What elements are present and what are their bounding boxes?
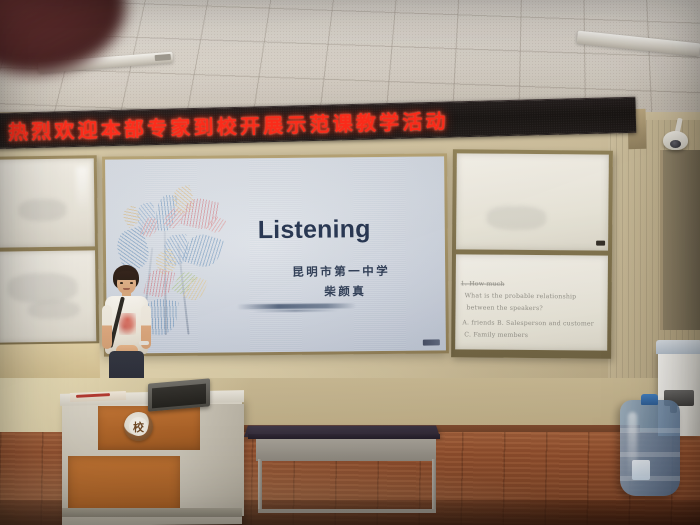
classroom-photo: 热烈欢迎本部专家到校开展示范课教学活动 1. How much What is … [0,0,700,525]
bottle-cap [641,394,658,405]
light-end-cap [155,54,171,61]
wristwatch [139,341,149,345]
slide-presenter-name: 柴颜真 [324,283,366,299]
slide-school-name: 昆明市第一中学 [292,263,390,280]
eye-left [120,282,123,284]
school-emblem-mark: 校 [129,417,148,436]
school-emblem-icon: 校 [124,412,153,441]
table-apron [256,439,436,461]
eye-right [130,282,133,284]
mouth [123,288,130,290]
whiteboard-glare [76,166,89,212]
whiteboard-line-3: between the speakers? [466,304,542,312]
whiteboard-right-panel-bottom: 1. How much What is the probable relatio… [455,254,608,350]
whiteboard-left-panel-top [0,158,95,247]
hair-fringe [115,271,138,280]
camera-lens-icon [670,140,681,148]
bottle-label [632,460,650,480]
whiteboard-line-2: What is the probable relationship [465,292,577,300]
table-leg [432,459,436,513]
doorway [660,150,700,330]
arm-left [102,305,112,349]
whiteboard-smudge [486,206,546,231]
whiteboard-left-panel-bottom [0,250,96,342]
screen-vignette [105,156,446,353]
whiteboard-right: 1. How much What is the probable relatio… [451,149,613,358]
slide-title: Listening [258,215,371,245]
whiteboard-smudge [18,199,66,222]
podium-lower-wood-panel [68,456,180,514]
table-leg [258,459,262,513]
whiteboard-line-4: A. friends B. Salesperson and customer [462,319,594,327]
whiteboard-line-1: 1. How much [461,280,505,287]
whiteboard-right-panel-top [456,153,609,250]
whiteboard-smudge [28,301,80,320]
slide-corner-logo [423,339,440,345]
table-foot-rail [258,509,436,513]
marker-tray-icon [596,241,605,246]
water-dispenser-top [656,340,700,354]
projection-screen: Listening 昆明市第一中学 柴颜真 [105,156,446,353]
whiteboard-line-5: C. Family members [464,331,528,339]
water-bottle [620,400,680,496]
whiteboard-smudge [7,273,77,304]
whiteboard-left [0,155,99,346]
podium-base [62,508,242,517]
tshirt-print [119,313,136,335]
